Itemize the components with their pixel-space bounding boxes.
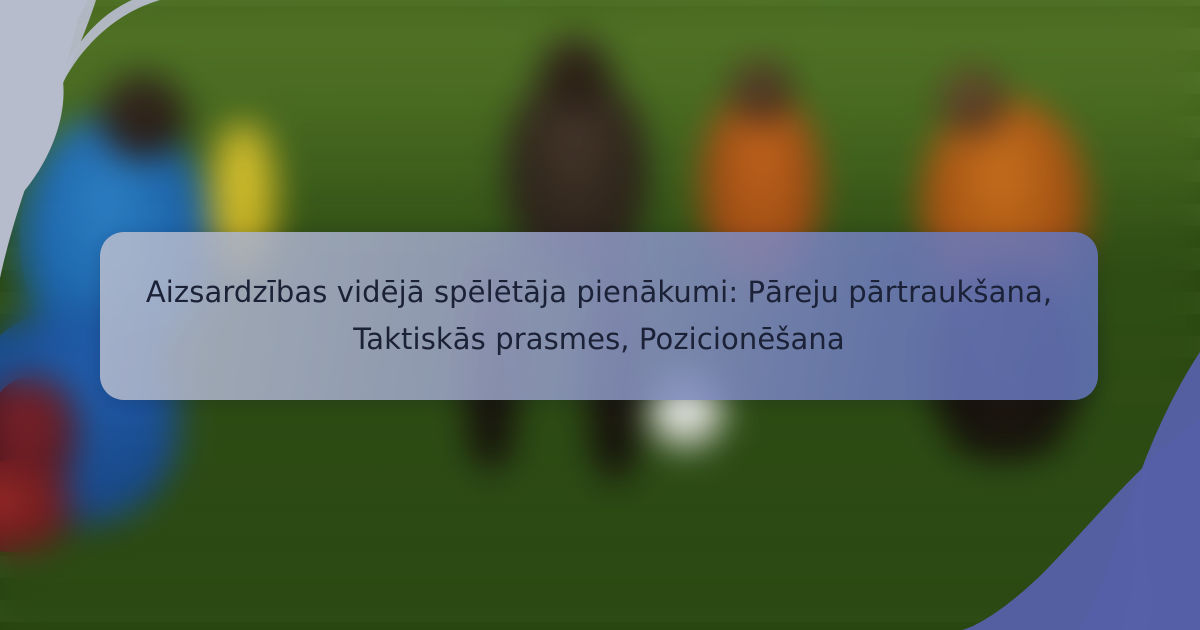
headline-text: Aizsardzības vidējā spēlētāja pienākumi:… [140,269,1058,363]
headline-card: Aizsardzības vidējā spēlētāja pienākumi:… [100,232,1098,400]
poster-canvas: Aizsardzības vidējā spēlētāja pienākumi:… [0,0,1200,630]
